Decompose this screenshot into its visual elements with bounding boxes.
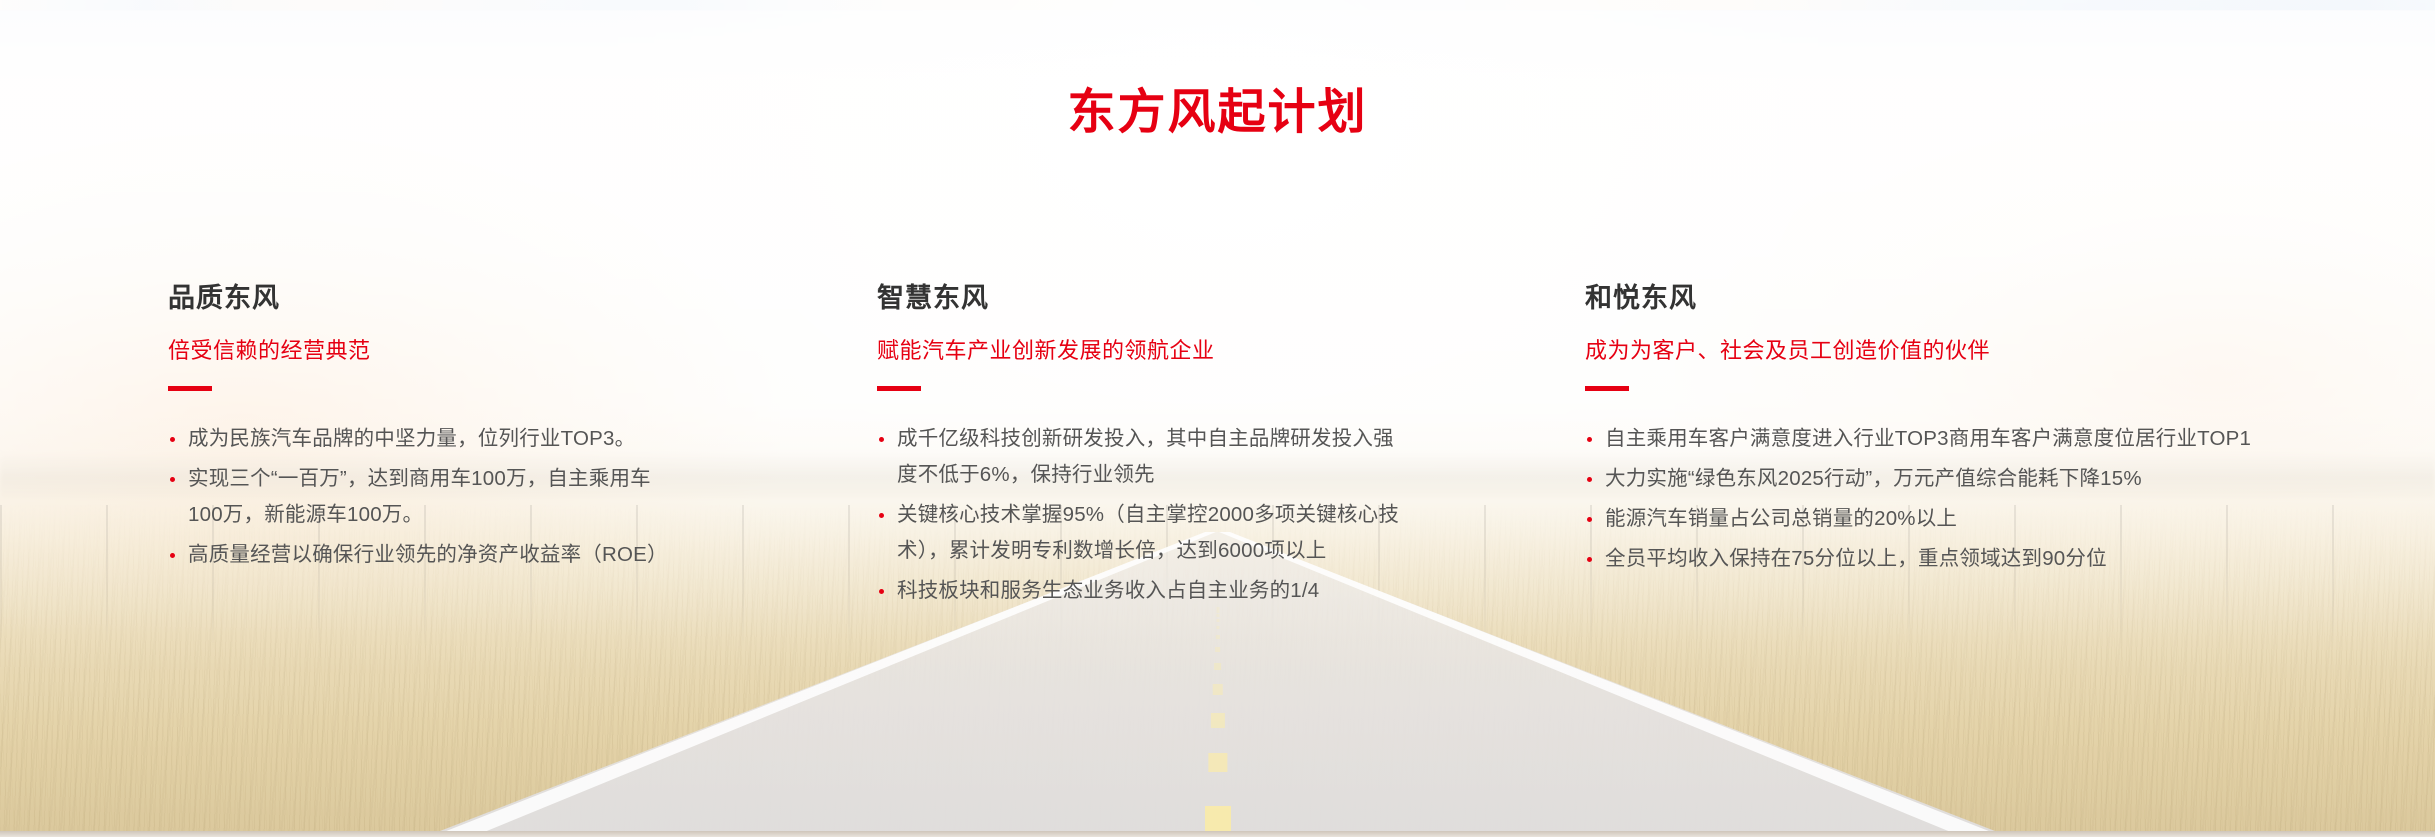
page-title: 东方风起计划 <box>0 84 2435 142</box>
bullet-dot-icon <box>170 437 175 442</box>
list-item: 关键核心技术掌握95%（自主掌控2000多项关键核心技术），累计发明专利数增长倍… <box>877 497 1407 569</box>
list-item-text: 高质量经营以确保行业领先的净资产收益率（ROE） <box>188 543 668 566</box>
list-item: 成千亿级科技创新研发投入，其中自主品牌研发投入强度不低于6%，保持行业领先 <box>877 421 1407 493</box>
column-subtitle: 成为为客户、社会及员工创造价值的伙伴 <box>1585 337 2435 366</box>
columns-container: 品质东风 倍受信赖的经营典范 成为民族汽车品牌的中坚力量，位列行业TOP3。 实… <box>0 282 2435 613</box>
list-item: 高质量经营以确保行业领先的净资产收益率（ROE） <box>168 537 668 573</box>
list-item-text: 自主乘用车客户满意度进入行业TOP3商用车客户满意度位居行业TOP1 <box>1605 427 2251 450</box>
column-title: 品质东风 <box>168 282 710 316</box>
bullet-dot-icon <box>1587 517 1592 522</box>
column-title: 智慧东风 <box>877 282 1420 316</box>
bullet-dot-icon <box>1587 557 1592 562</box>
bullet-dot-icon <box>170 477 175 482</box>
column-subtitle: 赋能汽车产业创新发展的领航企业 <box>877 337 1420 366</box>
bullet-dot-icon <box>879 437 884 442</box>
column-subtitle: 倍受信赖的经营典范 <box>168 337 710 366</box>
list-item-text: 大力实施“绿色东风2025行动”，万元产值综合能耗下降15% <box>1605 467 2142 490</box>
list-item-text: 关键核心技术掌握95%（自主掌控2000多项关键核心技术），累计发明专利数增长倍… <box>897 503 1399 562</box>
bullet-dot-icon <box>1587 477 1592 482</box>
bullet-dot-icon <box>879 513 884 518</box>
column-divider <box>168 386 212 391</box>
column-intelligence: 智慧东风 赋能汽车产业创新发展的领航企业 成千亿级科技创新研发投入，其中自主品牌… <box>710 282 1420 613</box>
list-item: 大力实施“绿色东风2025行动”，万元产值综合能耗下降15% <box>1585 461 2345 497</box>
list-item: 能源汽车销量占公司总销量的20%以上 <box>1585 501 2345 537</box>
list-item-text: 全员平均收入保持在75分位以上，重点领域达到90分位 <box>1605 547 2107 570</box>
column-divider <box>877 386 921 391</box>
list-item-text: 成千亿级科技创新研发投入，其中自主品牌研发投入强度不低于6%，保持行业领先 <box>897 427 1394 486</box>
column-quality: 品质东风 倍受信赖的经营典范 成为民族汽车品牌的中坚力量，位列行业TOP3。 实… <box>0 282 710 613</box>
bullet-dot-icon <box>1587 437 1592 442</box>
list-item-text: 能源汽车销量占公司总销量的20%以上 <box>1605 507 1957 530</box>
list-item: 自主乘用车客户满意度进入行业TOP3商用车客户满意度位居行业TOP1 <box>1585 421 2345 457</box>
column-harmony: 和悦东风 成为为客户、社会及员工创造价值的伙伴 自主乘用车客户满意度进入行业TO… <box>1420 282 2435 613</box>
list-item-text: 科技板块和服务生态业务收入占自主业务的1/4 <box>897 579 1319 602</box>
bullet-list: 成为民族汽车品牌的中坚力量，位列行业TOP3。 实现三个“一百万”，达到商用车1… <box>168 421 710 573</box>
bullet-list: 成千亿级科技创新研发投入，其中自主品牌研发投入强度不低于6%，保持行业领先 关键… <box>877 421 1420 608</box>
list-item: 科技板块和服务生态业务收入占自主业务的1/4 <box>877 573 1407 609</box>
list-item-text: 成为民族汽车品牌的中坚力量，位列行业TOP3。 <box>188 427 635 450</box>
bullet-dot-icon <box>879 589 884 594</box>
column-title: 和悦东风 <box>1585 282 2435 316</box>
bullet-dot-icon <box>170 553 175 558</box>
list-item: 全员平均收入保持在75分位以上，重点领域达到90分位 <box>1585 541 2345 577</box>
list-item-text: 实现三个“一百万”，达到商用车100万，自主乘用车100万，新能源车100万。 <box>188 467 651 526</box>
list-item: 成为民族汽车品牌的中坚力量，位列行业TOP3。 <box>168 421 668 457</box>
column-divider <box>1585 386 1629 391</box>
list-item: 实现三个“一百万”，达到商用车100万，自主乘用车100万，新能源车100万。 <box>168 461 668 533</box>
bullet-list: 自主乘用车客户满意度进入行业TOP3商用车客户满意度位居行业TOP1 大力实施“… <box>1585 421 2435 577</box>
